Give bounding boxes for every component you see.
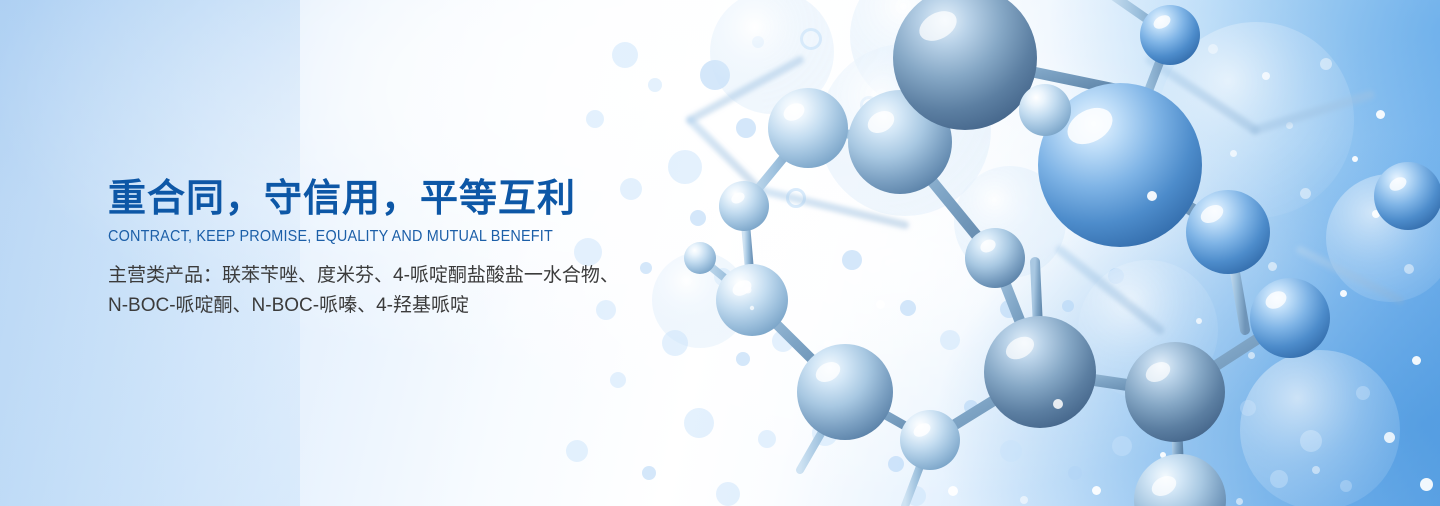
banner-copy: 重合同，守信用，平等互利 CONTRACT, KEEP PROMISE, EQU…	[108, 178, 828, 322]
product-list: 主营类产品：联苯苄唑、度米芬、4-哌啶酮盐酸盐一水合物、 N-BOC-哌啶酮、N…	[108, 261, 668, 323]
promo-banner: 重合同，守信用，平等互利 CONTRACT, KEEP PROMISE, EQU…	[0, 0, 1440, 506]
page-title: 重合同，守信用，平等互利	[108, 178, 828, 221]
banner-subtitle: CONTRACT, KEEP PROMISE, EQUALITY AND MUT…	[108, 228, 778, 246]
product-list-line-2: N-BOC-哌啶酮、N-BOC-哌嗪、4-羟基哌啶	[108, 291, 668, 322]
product-list-line-1: 主营类产品：联苯苄唑、度米芬、4-哌啶酮盐酸盐一水合物、	[108, 261, 668, 292]
